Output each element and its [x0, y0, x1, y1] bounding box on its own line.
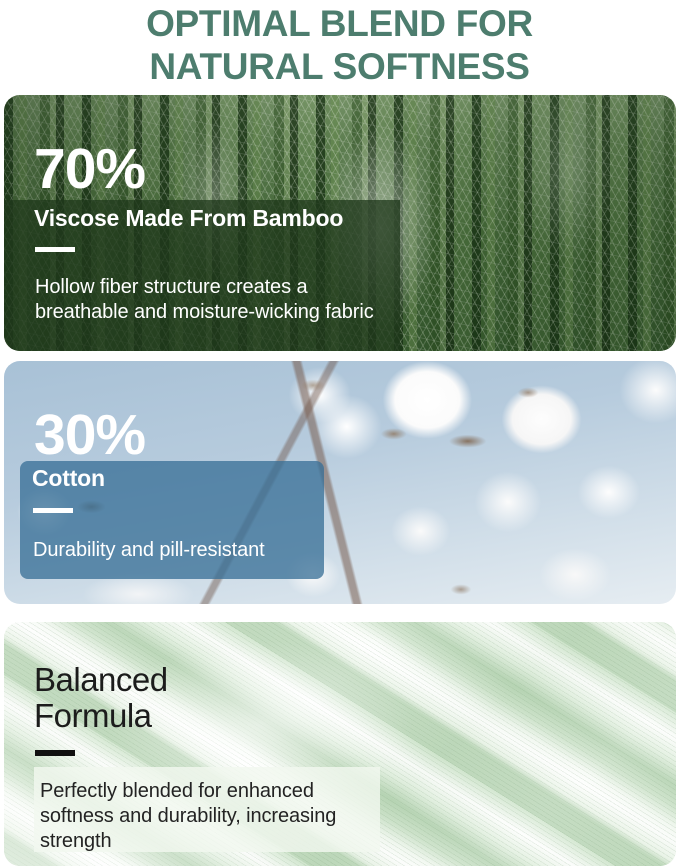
formula-heading-line-1: Balanced: [34, 662, 168, 698]
bamboo-material-label: Viscose Made From Bamboo: [34, 205, 343, 231]
panel-cotton: 30% Cotton Durability and pill-resistant: [4, 361, 676, 604]
formula-description: Perfectly blended for enhanced softness …: [40, 779, 380, 854]
cotton-content: 30% Cotton Durability and pill-resistant: [4, 361, 676, 604]
bamboo-divider: [35, 247, 75, 252]
formula-content: Balanced Formula Perfectly blended for e…: [4, 622, 676, 866]
page-title-line-1: OPTIMAL BLEND FOR: [146, 2, 533, 45]
cotton-percent: 30%: [34, 407, 145, 464]
formula-heading-line-2: Formula: [34, 698, 152, 734]
cotton-description: Durability and pill-resistant: [33, 538, 321, 563]
bamboo-content: 70% Viscose Made From Bamboo Hollow fibe…: [4, 95, 676, 351]
cotton-divider: [33, 508, 73, 513]
panel-bamboo: 70% Viscose Made From Bamboo Hollow fibe…: [4, 95, 676, 351]
page-title-line-2: NATURAL SOFTNESS: [149, 45, 529, 88]
cotton-material-label: Cotton: [32, 465, 105, 491]
bamboo-percent: 70%: [34, 141, 145, 198]
bamboo-description: Hollow fiber structure creates a breatha…: [35, 275, 387, 325]
panel-balanced-formula: Balanced Formula Perfectly blended for e…: [4, 622, 676, 866]
formula-divider: [35, 750, 75, 756]
infographic-root: OPTIMAL BLEND FOR NATURAL SOFTNESS 70% V…: [0, 0, 679, 866]
page-title: OPTIMAL BLEND FOR NATURAL SOFTNESS: [0, 0, 679, 92]
